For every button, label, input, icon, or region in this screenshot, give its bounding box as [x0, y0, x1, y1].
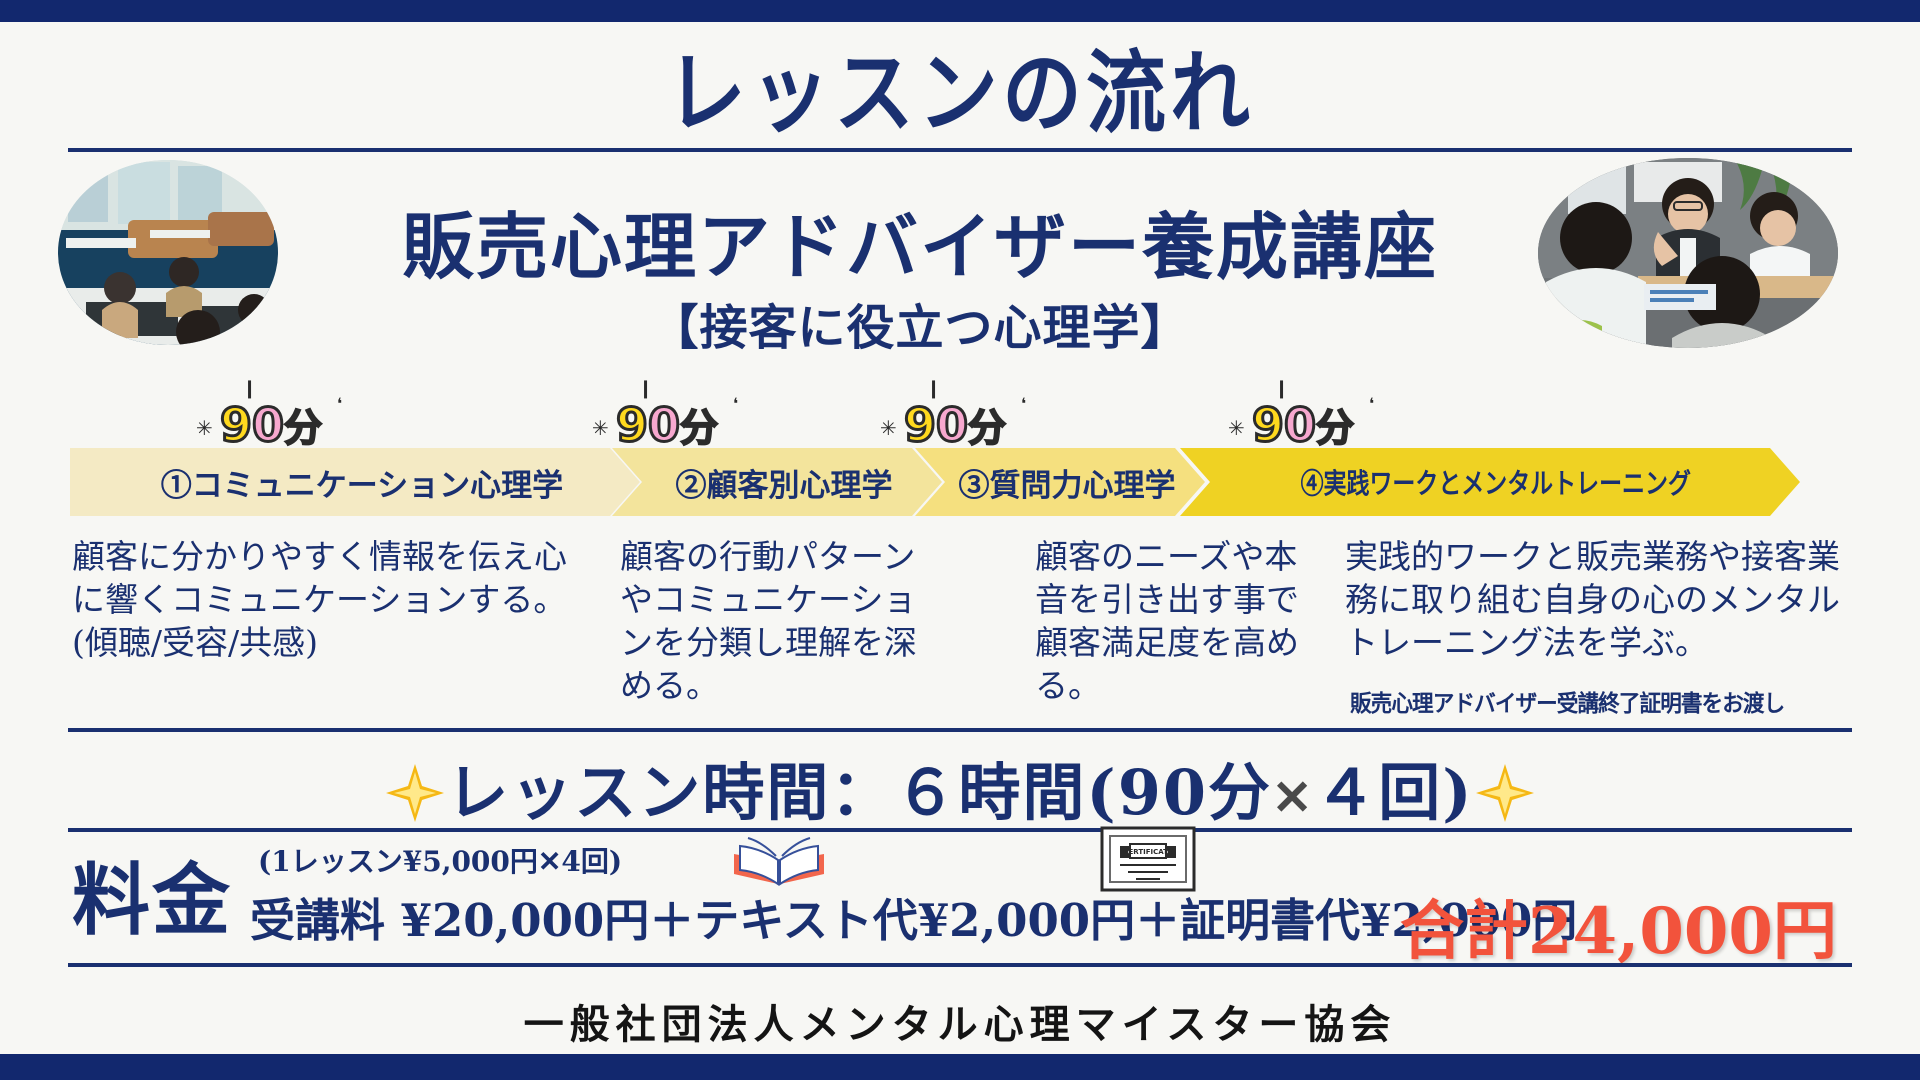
step-label-1: ①コミュニケーション心理学	[147, 460, 563, 505]
divider-above-footer	[68, 963, 1852, 967]
divider-above-price	[68, 828, 1852, 832]
step-chevron-4[interactable]: ④実践ワークとメンタルトレーニング	[1180, 448, 1800, 516]
step-label-2: ②顧客別心理学	[662, 460, 893, 505]
course-title: 販売心理アドバイザー養成講座	[310, 188, 1530, 293]
step-chevron-3[interactable]: ③質問力心理学	[915, 448, 1205, 516]
sparkle-icon: ❛	[733, 396, 738, 412]
price-heading: 料金	[72, 838, 232, 950]
step-description-4: 実践的ワークと販売業務や接客業務に取り組む自身の心のメンタルトレーニング法を学ぶ…	[1345, 536, 1845, 665]
duration-badge-step-2: ✳❙❛◦90分	[592, 388, 742, 448]
duration-digit-9: 9	[616, 398, 648, 452]
duration-digit-9: 9	[1252, 398, 1284, 452]
sparkle-icon: ❙	[926, 380, 941, 398]
step-label-3: ③質問力心理学	[945, 460, 1176, 505]
lesson-time-text-after: ４回)	[1314, 756, 1473, 829]
duration-unit: 分	[680, 406, 718, 450]
course-subtitle: 【接客に役立つ心理学】	[310, 288, 1530, 358]
step-chevron-1[interactable]: ①コミュニケーション心理学	[70, 448, 640, 516]
duration-digit-9: 9	[220, 398, 252, 452]
certificate-label: CERTIFICATE	[1123, 848, 1173, 856]
duration-badge-step-1: ✳❙❛◦90分	[196, 388, 346, 448]
photo-seminar-consultation	[1538, 158, 1838, 348]
sparkle-icon: ✳	[1228, 418, 1245, 438]
price-per-lesson-note: (1レッスン¥5,000円✕4回)	[258, 840, 622, 880]
price-total: 合計24,000円	[1400, 880, 1837, 972]
bottom-accent-bar	[0, 1054, 1920, 1080]
sparkle-icon: ❙	[242, 380, 257, 398]
sparkle-icon: ❙	[1274, 380, 1289, 398]
duration-badge-text: ✳❙❛◦90分	[616, 402, 718, 448]
star-icon	[384, 762, 446, 824]
certificate-note: 販売心理アドバイザー受講終了証明書をお渡し	[1350, 684, 1820, 718]
sparkle-icon: ✳	[880, 418, 897, 438]
step-label-4: ④実践ワークとメンタルトレーニング	[1289, 462, 1691, 502]
top-accent-bar	[0, 0, 1920, 22]
open-book-icon	[726, 832, 832, 894]
step-description-2: 顧客の行動パターンやコミュニケーションを分類し理解を深める。	[620, 536, 920, 708]
step-description-1: 顧客に分かりやすく情報を伝え心に響くコミュニケーションする。(傾聴/受容/共感)	[72, 536, 577, 665]
step-flow: ①コミュニケーション心理学 ②顧客別心理学 ③質問力心理学 ④実践ワークとメンタ…	[70, 448, 1860, 516]
price-breakdown: 受講料 ¥20,000円＋テキスト代¥2,000円＋証明書代¥2,000円	[250, 884, 1577, 949]
duration-badge-step-4: ✳❙❛◦90分	[1228, 388, 1378, 448]
photo-left-illustration	[58, 160, 278, 345]
certificate-icon: CERTIFICATE	[1098, 824, 1198, 894]
step-chevron-2[interactable]: ②顧客別心理学	[612, 448, 942, 516]
photo-coworking-office	[58, 160, 278, 345]
duration-digit-0: 0	[1284, 398, 1316, 452]
lesson-time-text-before: レッスン時間：６時間(90分	[446, 756, 1272, 829]
duration-unit: 分	[1316, 406, 1354, 450]
duration-digit-0: 0	[252, 398, 284, 452]
duration-digit-0: 0	[648, 398, 680, 452]
step-description-3: 顧客のニーズや本音を引き出す事で顧客満足度を高める。	[1035, 536, 1300, 708]
photo-right-illustration	[1538, 158, 1838, 348]
duration-digit-0: 0	[936, 398, 968, 452]
sparkle-icon: ❙	[638, 380, 653, 398]
sparkle-icon: ✳	[592, 418, 609, 438]
divider-above-lesson-time	[68, 728, 1852, 732]
divider-top	[68, 148, 1852, 152]
lesson-time-row: レッスン時間：６時間(90分✕４回)	[0, 742, 1920, 832]
page-title: レッスンの流れ	[0, 21, 1920, 151]
duration-digit-9: 9	[904, 398, 936, 452]
sparkle-icon: ❛	[1369, 396, 1374, 412]
sparkle-icon: ✳	[196, 418, 213, 438]
duration-unit: 分	[968, 406, 1006, 450]
footer-organization: 一般社団法人メンタル心理マイスター協会	[0, 992, 1920, 1050]
duration-badge-text: ✳❙❛◦90分	[1252, 402, 1354, 448]
sparkle-icon: ❛	[337, 396, 342, 412]
duration-unit: 分	[284, 406, 322, 450]
star-icon	[1474, 762, 1536, 824]
sparkle-icon: ❛	[1021, 396, 1026, 412]
duration-badge-text: ✳❙❛◦90分	[220, 402, 322, 448]
duration-badge-text: ✳❙❛◦90分	[904, 402, 1006, 448]
duration-badge-step-3: ✳❙❛◦90分	[880, 388, 1030, 448]
multiply-icon: ✕	[1272, 770, 1314, 826]
